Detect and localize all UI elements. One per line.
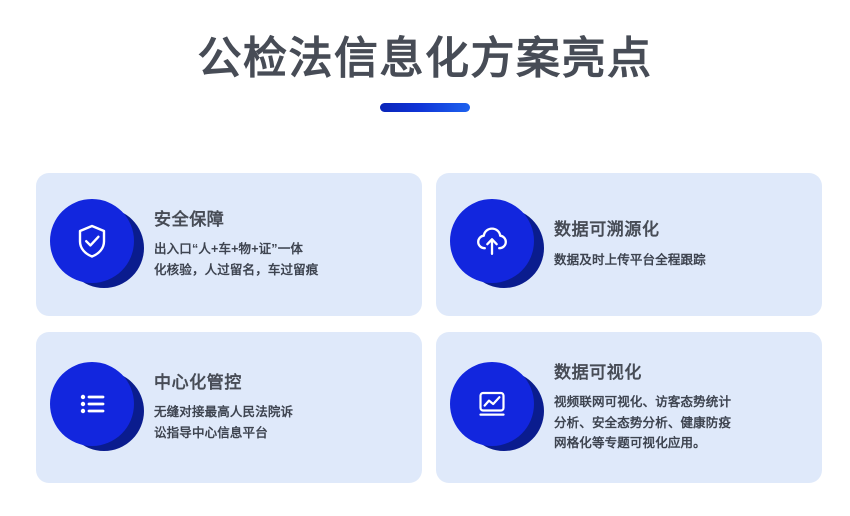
card-body: 数据可溯源化 数据及时上传平台全程跟踪: [554, 219, 804, 270]
feature-highlights-page: 公检法信息化方案亮点 安全保障 出入口“人+车+物+证”一体 化核验，人过留名，…: [0, 0, 850, 516]
icon-circle: [50, 199, 134, 283]
icon-circle: [450, 199, 534, 283]
card-body: 中心化管控 无缝对接最高人民法院诉 讼指导中心信息平台: [154, 372, 404, 443]
card-title: 安全保障: [154, 209, 404, 230]
icon-circle: [450, 362, 534, 446]
icon-circle: [50, 362, 134, 446]
card-description: 视频联网可视化、访客态势统计 分析、安全态势分析、健康防疫 网格化等专题可视化应…: [554, 392, 804, 453]
page-header: 公检法信息化方案亮点: [0, 0, 850, 112]
card-title: 数据可视化: [554, 362, 804, 383]
feature-card-data-visualization[interactable]: 数据可视化 视频联网可视化、访客态势统计 分析、安全态势分析、健康防疫 网格化等…: [436, 332, 822, 483]
icon-wrapper: [50, 362, 142, 454]
shield-check-icon: [72, 221, 112, 261]
title-underline-bar: [380, 103, 470, 112]
page-title: 公检法信息化方案亮点: [0, 34, 850, 85]
chart-monitor-icon: [471, 383, 513, 425]
feature-cards-grid: 安全保障 出入口“人+车+物+证”一体 化核验，人过留名，车过留痕 数据可溯源化…: [36, 173, 814, 483]
feature-card-security[interactable]: 安全保障 出入口“人+车+物+证”一体 化核验，人过留名，车过留痕: [36, 173, 422, 316]
feature-card-centralized-control[interactable]: 中心化管控 无缝对接最高人民法院诉 讼指导中心信息平台: [36, 332, 422, 483]
icon-wrapper: [450, 199, 542, 291]
icon-wrapper: [450, 362, 542, 454]
card-title: 数据可溯源化: [554, 219, 804, 240]
card-body: 安全保障 出入口“人+车+物+证”一体 化核验，人过留名，车过留痕: [154, 209, 404, 280]
card-description: 出入口“人+车+物+证”一体 化核验，人过留名，车过留痕: [154, 239, 404, 280]
card-body: 数据可视化 视频联网可视化、访客态势统计 分析、安全态势分析、健康防疫 网格化等…: [554, 362, 804, 453]
bullet-list-icon: [72, 384, 112, 424]
card-description: 无缝对接最高人民法院诉 讼指导中心信息平台: [154, 402, 404, 443]
card-title: 中心化管控: [154, 372, 404, 393]
feature-card-data-traceability[interactable]: 数据可溯源化 数据及时上传平台全程跟踪: [436, 173, 822, 316]
card-description: 数据及时上传平台全程跟踪: [554, 250, 804, 270]
cloud-upload-icon: [471, 220, 513, 262]
icon-wrapper: [50, 199, 142, 291]
